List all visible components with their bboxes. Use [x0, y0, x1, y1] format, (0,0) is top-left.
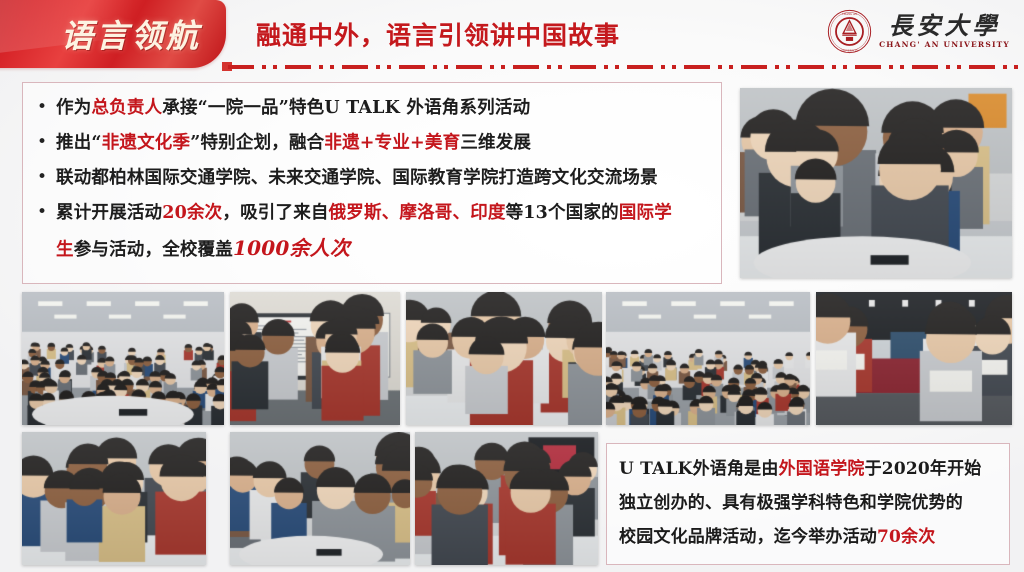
photo-seated-students-listening: [22, 432, 206, 565]
bullet-text: 推出“非遗文化季”特别企划，融合非遗+专业+美育三维发展: [56, 128, 531, 158]
bullet-3-seg-0: 累计开展活动: [56, 203, 162, 223]
bullet-row: 生参与活动，全校覆盖1000余人次: [37, 233, 713, 265]
caption-2-seg-0: 校园文化品牌活动，迄今举办活动: [619, 527, 877, 547]
bullet-3-seg-5: 国际学: [619, 203, 672, 223]
photo-presenter-whiteboard-image: [230, 292, 400, 425]
page-title: 融通中外，语言引领讲中国故事: [256, 16, 620, 52]
photo-roundtable-discussion-image: [740, 88, 1012, 278]
bullet-3-seg-4: 等13个国家的: [506, 203, 619, 223]
caption-0-seg-2: 于2020年开始: [865, 459, 982, 479]
photo-seated-students-listening-image: [22, 432, 206, 565]
photo-group-photo-classroom-image: [606, 292, 810, 425]
bullet-text: 联动都柏林国际交通学院、未来交通学院、国际教育学院打造跨文化交流场景: [56, 163, 658, 193]
caption-line: 校园文化品牌活动，迄今举办活动70余次: [619, 520, 997, 554]
bullet-row: •联动都柏林国际交通学院、未来交通学院、国际教育学院打造跨文化交流场景: [37, 163, 713, 193]
bullet-text: 作为总负责人承接“一院一品”特色U TALK 外语角系列活动: [56, 93, 530, 123]
svg-text:UNIVERSITY: UNIVERSITY: [841, 48, 859, 52]
header-banner-label: 语言领航: [38, 8, 224, 60]
photo-lecture-hall-audience: [22, 292, 224, 425]
logo-name-en: CHANG' AN UNIVERSITY: [879, 40, 1010, 49]
photo-three-students-smiling: [415, 432, 598, 565]
caption-0-seg-1: 外国语学院: [779, 459, 865, 479]
bullet-row: •推出“非遗文化季”特别企划，融合非遗+专业+美育三维发展: [37, 128, 713, 158]
bullet-row: •累计开展活动20余次，吸引了来自俄罗斯、摩洛哥、印度等13个国家的国际学: [37, 198, 713, 228]
bullet-3-seg-1: 20余次: [162, 203, 222, 223]
bullet-1-seg-4: 三维发展: [460, 133, 531, 153]
header-divider-rule: [228, 65, 1018, 69]
caption-line: 独立创办的、具有极强学科特色和学院优势的: [619, 486, 997, 520]
slide-canvas: 语言领航 融通中外，语言引领讲中国故事 CHANG AN UNIVERSITY …: [0, 0, 1024, 572]
logo-wordmark: 長安大學 CHANG' AN UNIVERSITY: [879, 13, 1010, 48]
logo-name-cn: 長安大學: [889, 13, 1001, 38]
bullet-4-seg-2: 1000余人次: [233, 236, 350, 260]
caption-0-seg-0: U TALK外语角是由: [619, 459, 779, 479]
university-logo: CHANG AN UNIVERSITY 長安大學 CHANG' AN UNIVE…: [827, 7, 1010, 55]
bullet-0-seg-1: 总负责人: [91, 98, 162, 118]
changan-university-seal-icon: CHANG AN UNIVERSITY: [827, 9, 872, 54]
photo-lecture-hall-audience-image: [22, 292, 224, 425]
bullet-1-seg-0: 推出“: [56, 133, 102, 153]
caption-line: U TALK外语角是由外国语学院于2020年开始: [619, 452, 997, 486]
bullet-4-seg-1: 参与活动，全校覆盖: [74, 240, 233, 260]
bullet-2-seg-0: 联动都柏林国际交通学院、未来交通学院、国际教育学院打造跨文化交流场景: [56, 168, 658, 188]
photo-table-group-chat-image: [230, 432, 410, 565]
bullet-0-seg-2: 承接“一院一品”特色U TALK 外语角系列活动: [162, 98, 530, 118]
photo-three-students-smiling-image: [415, 432, 598, 565]
svg-text:CHANG AN: CHANG AN: [842, 11, 858, 15]
photo-students-talking-closeup: [406, 292, 602, 425]
bullet-1-seg-1: 非遗文化季: [102, 133, 191, 153]
photo-roundtable-discussion: [740, 88, 1012, 278]
bullet-marker-icon: •: [37, 93, 47, 121]
bullet-0-seg-0: 作为: [56, 98, 91, 118]
bullet-3-seg-2: ，吸引了来自: [222, 203, 328, 223]
bullet-4-seg-0: 生: [56, 240, 74, 260]
caption-text-card: U TALK外语角是由外国语学院于2020年开始独立创办的、具有极强学科特色和学…: [606, 443, 1010, 565]
bullet-1-seg-3: 非遗+专业+美育: [324, 133, 460, 153]
photo-certificate-ceremony-image: [816, 292, 1012, 425]
photo-group-photo-classroom: [606, 292, 810, 425]
photo-students-talking-closeup-image: [406, 292, 602, 425]
bullet-marker-icon: •: [37, 163, 47, 191]
bullet-text-card: •作为总负责人承接“一院一品”特色U TALK 外语角系列活动•推出“非遗文化季…: [22, 82, 722, 284]
bullet-1-seg-2: ”特别企划，融合: [190, 133, 324, 153]
bullet-marker-icon: •: [37, 128, 47, 156]
photo-table-group-chat: [230, 432, 410, 565]
photo-presenter-whiteboard: [230, 292, 400, 425]
caption-1-seg-0: 独立创办的、具有极强学科特色和学院优势的: [619, 493, 963, 513]
bullet-text: 累计开展活动20余次，吸引了来自俄罗斯、摩洛哥、印度等13个国家的国际学: [56, 198, 672, 228]
bullet-3-seg-3: 俄罗斯、摩洛哥、印度: [329, 203, 506, 223]
bullet-row: •作为总负责人承接“一院一品”特色U TALK 外语角系列活动: [37, 93, 713, 123]
caption-2-seg-1: 70余次: [877, 527, 935, 547]
bullet-text: 生参与活动，全校覆盖1000余人次: [56, 233, 350, 265]
photo-certificate-ceremony: [816, 292, 1012, 425]
bullet-marker-icon: •: [37, 198, 47, 226]
